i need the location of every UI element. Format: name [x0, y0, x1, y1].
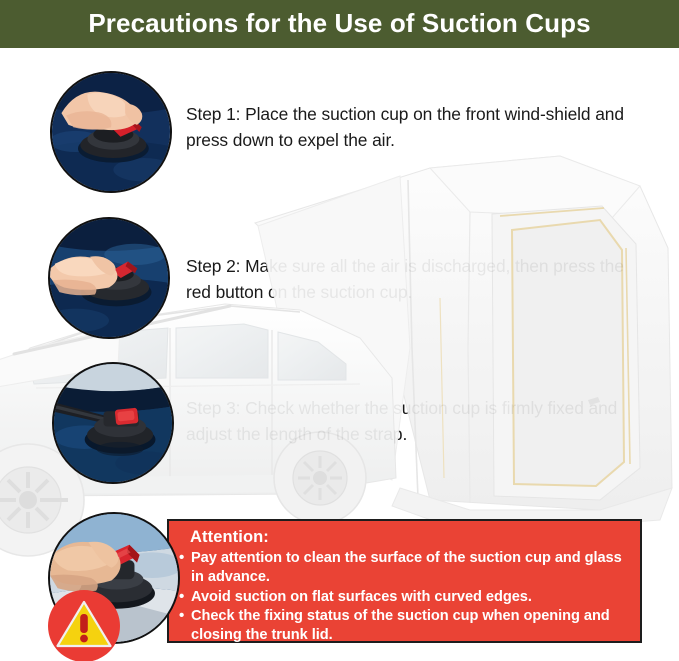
- page-title: Precautions for the Use of Suction Cups: [0, 0, 679, 48]
- suction-cup-placement-illustration: [52, 73, 170, 191]
- attention-item-text: Avoid suction on flat surfaces with curv…: [191, 589, 532, 605]
- step-1-photo: [50, 71, 172, 193]
- mounted-suction-cup-illustration: [54, 364, 172, 482]
- press-red-button-illustration: [50, 219, 168, 337]
- attention-title: Attention:: [190, 528, 269, 547]
- step-1-text: Step 1: Place the suction cup on the fro…: [186, 101, 626, 153]
- attention-item-text: Pay attention to clean the surface of th…: [191, 550, 622, 585]
- bullet-icon: •: [179, 606, 184, 625]
- attention-item: • Avoid suction on flat surfaces with cu…: [177, 588, 627, 607]
- attention-item: • Pay attention to clean the surface of …: [177, 549, 627, 588]
- warning-triangle-icon: [47, 589, 121, 661]
- step-2-text: Step 2: Make sure all the air is dischar…: [186, 253, 626, 305]
- precautions-infographic: Precautions for the Use of Suction Cups …: [0, 0, 679, 661]
- attention-box: Attention: • Pay attention to clean the …: [167, 519, 642, 643]
- bullet-icon: •: [179, 587, 184, 606]
- attention-item-text: Check the fixing status of the suction c…: [191, 608, 610, 643]
- bullet-icon: •: [179, 548, 184, 567]
- step-2-photo: [48, 217, 170, 339]
- header-band: Precautions for the Use of Suction Cups: [0, 0, 679, 48]
- attention-list: • Pay attention to clean the surface of …: [177, 549, 627, 645]
- step-3-photo: [52, 362, 174, 484]
- step-3-text: Step 3: Check whether the suction cup is…: [186, 395, 626, 447]
- attention-item: • Check the fixing status of the suction…: [177, 607, 627, 646]
